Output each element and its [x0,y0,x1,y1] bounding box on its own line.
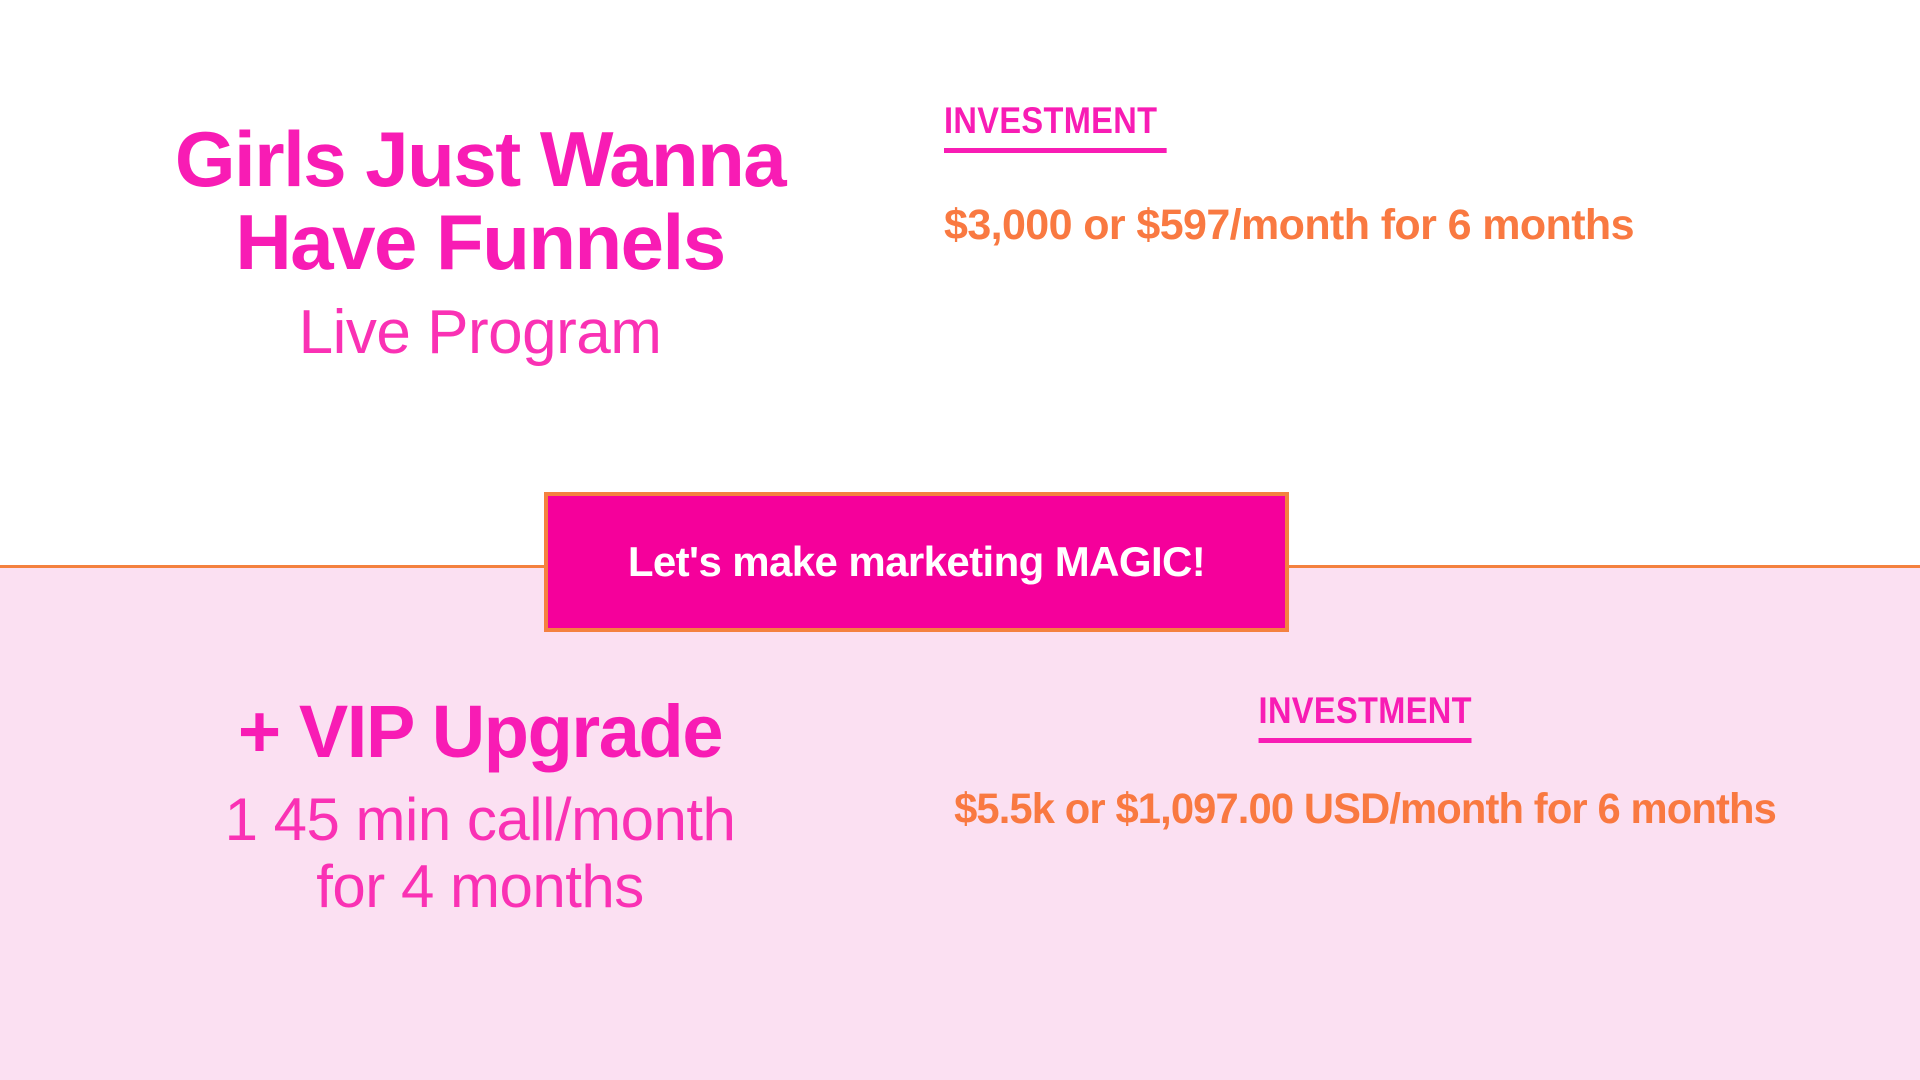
price-top: $3,000 or $597/month for 6 months [944,201,1844,250]
top-investment-block: INVESTMENT $3,000 or $597/month for 6 mo… [944,100,1844,250]
vip-headline: + VIP Upgrade [60,692,900,772]
investment-label-bottom: INVESTMENT [1258,690,1471,743]
magic-banner: Let's make marketing MAGIC! [544,492,1289,632]
vip-detail-line2: for 4 months [60,853,900,920]
vip-upgrade-block: + VIP Upgrade 1 45 min call/month for 4 … [60,692,900,920]
program-headline: Girls Just Wanna Have Funnels [60,118,900,283]
investment-label-top: INVESTMENT [944,100,1167,153]
price-bottom: $5.5k or $1,097.00 USD/month for 6 month… [875,785,1855,834]
vip-detail: 1 45 min call/month for 4 months [60,786,900,920]
pricing-slide: Girls Just Wanna Have Funnels Live Progr… [0,0,1920,1080]
program-title-block: Girls Just Wanna Have Funnels Live Progr… [60,118,900,368]
program-subtitle: Live Program [60,299,900,367]
vip-detail-line1: 1 45 min call/month [225,786,736,853]
program-headline-line2: Have Funnels [60,201,900,284]
program-headline-line1: Girls Just Wanna [175,115,785,203]
magic-banner-text: Let's make marketing MAGIC! [628,538,1205,586]
bottom-investment-block: INVESTMENT $5.5k or $1,097.00 USD/month … [860,690,1870,834]
